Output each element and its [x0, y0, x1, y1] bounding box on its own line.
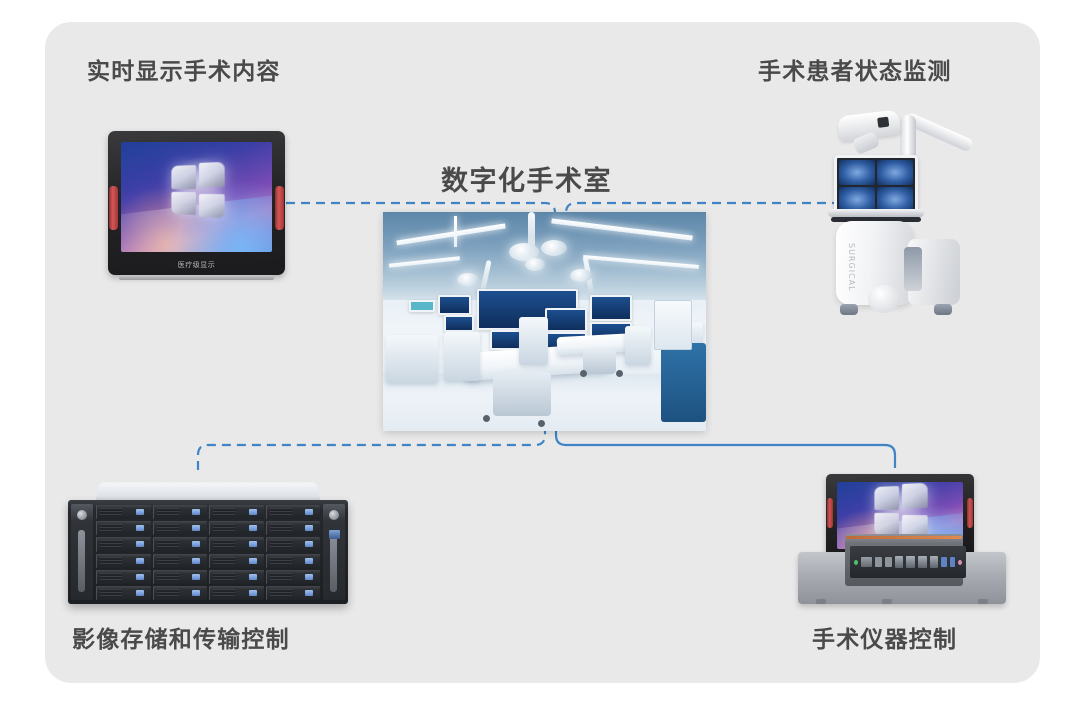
monitor-handle-left [109, 186, 118, 230]
monitor-brand-logo: 医疗级显示 [178, 260, 216, 270]
drive-bay [209, 521, 264, 535]
server-rack-ear-right [323, 504, 345, 600]
drive-bay [266, 586, 321, 600]
scan-tile-1 [839, 160, 875, 185]
or-table-pedestal-front [493, 372, 551, 416]
drive-bay [153, 570, 208, 584]
drive-bay [266, 505, 321, 519]
vga-port [861, 557, 872, 567]
drive-bay [153, 586, 208, 600]
center-title: 数字化手术室 [441, 159, 612, 198]
monitor-bezel: 医疗级显示 [108, 131, 285, 275]
panelpc-handle-right [967, 498, 973, 528]
server-rack-ear-left [71, 504, 93, 600]
or-door [654, 300, 692, 350]
drive-bay [96, 505, 151, 519]
or-table-wheel-3 [580, 370, 587, 377]
or-equipment-cart-right [625, 326, 651, 365]
drive-bay [209, 554, 264, 568]
drive-bay [209, 537, 264, 551]
panelpc-foot [882, 599, 892, 604]
drive-bay [96, 570, 151, 584]
or-monitor-right-1 [590, 295, 633, 321]
or-ceiling-frame [454, 216, 457, 247]
or-monitor-left-small [438, 295, 471, 314]
serial-port [885, 557, 892, 567]
or-monitor-mid-right [545, 308, 588, 332]
drive-bay [96, 521, 151, 535]
cart-side-module [908, 239, 960, 305]
monitor-screen [121, 142, 272, 252]
or-equipment-cart-left [386, 335, 438, 383]
monitor-handle-right [275, 186, 284, 230]
cart-bumper [868, 285, 900, 313]
drive-bay [266, 521, 321, 535]
drive-bay [209, 586, 264, 600]
drive-bay [266, 554, 321, 568]
drive-bay [209, 505, 264, 519]
cart-wheel-left [840, 304, 858, 315]
cart-display-screen [834, 155, 918, 217]
usb-port [941, 557, 946, 567]
device-rackmount-storage-server [68, 478, 348, 606]
drive-bay [153, 554, 208, 568]
device-medical-display-monitor: 医疗级显示 [108, 131, 285, 275]
scan-tile-2 [877, 160, 913, 185]
diagram-canvas: 实时显示手术内容 手术患者状态监测 影像存储和传输控制 手术仪器控制 数字化手术… [0, 0, 1080, 707]
monitor-stand [119, 275, 275, 280]
node-label-storage: 影像存储和传输控制 [72, 620, 290, 654]
server-drive-bay-grid [96, 505, 320, 600]
windows-logo-icon [171, 164, 224, 216]
drive-bay [153, 505, 208, 519]
lan-port [918, 556, 927, 568]
or-monitor-wall-label [409, 300, 436, 313]
drive-bay [96, 537, 151, 551]
server-usb-port [329, 530, 340, 539]
center-operating-room-image [383, 212, 706, 431]
cart-control-bar [828, 209, 924, 217]
or-surgical-lamp-3 [525, 258, 545, 271]
drive-bay [153, 537, 208, 551]
panelpc-foot [816, 599, 826, 604]
drive-bay [209, 570, 264, 584]
audio-port-green [854, 560, 858, 565]
device-mobile-imaging-cart: SURGICAL [812, 105, 992, 315]
server-front-face [68, 500, 348, 604]
drive-bay [266, 570, 321, 584]
device-industrial-panel-pc [798, 474, 1006, 612]
drive-bay [153, 521, 208, 535]
node-label-monitoring: 手术患者状态监测 [758, 52, 952, 86]
panelpc-foot [978, 599, 988, 604]
lan-port [906, 556, 915, 568]
or-monitor-left-small-2 [444, 315, 474, 332]
lan-port [895, 556, 904, 568]
panelpc-handle-left [827, 498, 833, 528]
or-table-wheel-2 [538, 420, 545, 427]
audio-port-pink [958, 560, 962, 565]
operating-room-scene [383, 212, 706, 431]
drive-bay [96, 586, 151, 600]
usb-port [950, 557, 955, 567]
cart-wheel-right [934, 304, 952, 315]
lan-port [930, 556, 939, 568]
or-table-wheel-4 [616, 370, 623, 377]
windows-logo-icon [874, 485, 927, 537]
panelpc-accent-stripe [846, 536, 962, 539]
drive-bay [266, 537, 321, 551]
or-blue-cabinet [661, 343, 706, 422]
panelpc-io-panel [850, 546, 966, 578]
drive-bay [96, 554, 151, 568]
cart-brand-text: SURGICAL [847, 243, 856, 292]
serial-port [875, 557, 882, 567]
node-label-instrument: 手术仪器控制 [812, 620, 957, 654]
or-anesthesia-cart [444, 332, 480, 380]
node-label-display: 实时显示手术内容 [87, 52, 281, 86]
or-equipment-cart-center [519, 317, 548, 365]
or-table-pedestal-back [583, 350, 615, 374]
